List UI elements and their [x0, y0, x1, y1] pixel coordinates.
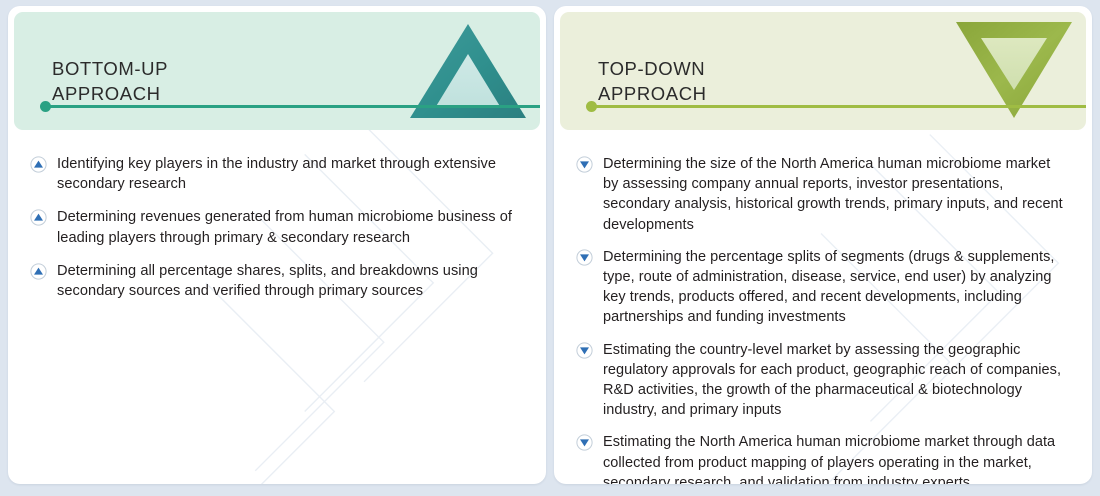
header-accent-rule	[40, 105, 540, 108]
list-item-text: Identifying key players in the industry …	[57, 154, 520, 194]
bullet-list-bottom-up: Identifying key players in the industry …	[30, 154, 520, 301]
triangle-down-circle-icon	[576, 156, 593, 173]
body-top-down: Determining the size of the North Americ…	[554, 130, 1092, 484]
rule-line	[592, 105, 1086, 108]
header-bottom-up: BOTTOM-UP APPROACH	[14, 12, 540, 130]
approach-comparison-panel: BOTTOM-UP APPROACH	[0, 0, 1100, 496]
list-item-text: Determining the percentage splits of seg…	[603, 247, 1066, 328]
header-top-down: TOP-DOWN APPROACH	[560, 12, 1086, 130]
list-item-text: Determining all percentage shares, split…	[57, 261, 520, 301]
rule-line	[46, 105, 540, 108]
list-item-text: Determining the size of the North Americ…	[603, 154, 1066, 235]
triangle-down-circle-icon	[576, 434, 593, 451]
triangle-up-circle-icon	[30, 209, 47, 226]
body-bottom-up: Identifying key players in the industry …	[8, 130, 546, 484]
list-item: Determining all percentage shares, split…	[30, 261, 520, 301]
card-title: BOTTOM-UP APPROACH	[52, 56, 168, 106]
list-item: Determining the percentage splits of seg…	[576, 247, 1066, 328]
bullet-list-top-down: Determining the size of the North Americ…	[576, 154, 1066, 484]
triangle-down-circle-icon	[576, 342, 593, 359]
triangle-up-circle-icon	[30, 156, 47, 173]
list-item-text: Estimating the country-level market by a…	[603, 340, 1066, 421]
header-accent-rule	[586, 105, 1086, 108]
card-title: TOP-DOWN APPROACH	[598, 56, 707, 106]
list-item: Determining revenues generated from huma…	[30, 207, 520, 247]
list-item: Estimating the country-level market by a…	[576, 340, 1066, 421]
list-item-text: Determining revenues generated from huma…	[57, 207, 520, 247]
card-bottom-up-approach: BOTTOM-UP APPROACH	[8, 6, 546, 484]
card-top-down-approach: TOP-DOWN APPROACH	[554, 6, 1092, 484]
list-item: Identifying key players in the industry …	[30, 154, 520, 194]
list-item-text: Estimating the North America human micro…	[603, 432, 1066, 484]
triangle-up-circle-icon	[30, 263, 47, 280]
list-item: Determining the size of the North Americ…	[576, 154, 1066, 235]
list-item: Estimating the North America human micro…	[576, 432, 1066, 484]
triangle-down-circle-icon	[576, 249, 593, 266]
